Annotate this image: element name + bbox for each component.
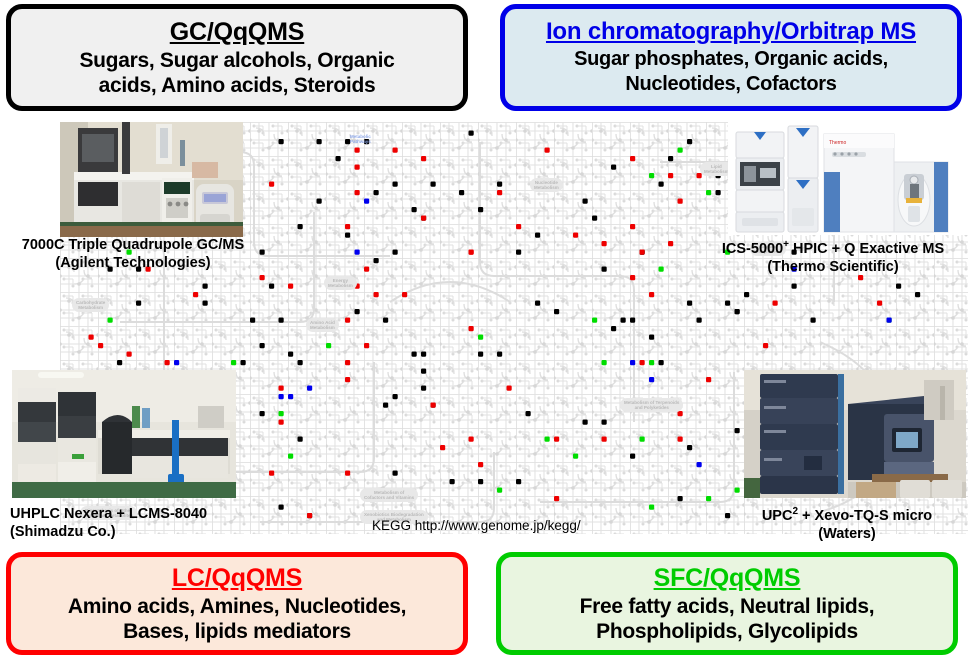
caption-ic-vendor: (Thermo Scientific) — [700, 258, 966, 276]
figure-canvas: Metabolic Pathways Carbohydrate Metaboli… — [0, 0, 968, 659]
category-title-lc: LC/QqQMS — [172, 564, 302, 593]
kegg-module-label: Carbohydrate Metabolism — [72, 298, 109, 312]
photo-sfc-instrument — [744, 370, 966, 498]
category-analytes-ic-line2: Nucleotides, Cofactors — [625, 72, 836, 97]
caption-ic-model-post: HPIC + Q Exactive MS — [789, 241, 944, 257]
category-analytes-sfc-line2: Phospholipids, Glycolipids — [596, 619, 858, 644]
kegg-module-label: Metabolism of Cofactors and Vitamins — [360, 488, 418, 502]
caption-lcms-model: UHPLC Nexera + LCMS-8040 — [10, 506, 207, 522]
caption-sfc-model-pre: UPC — [762, 508, 793, 524]
caption-lcms: UHPLC Nexera + LCMS-8040 (Shimadzu Co.) — [10, 505, 240, 541]
kegg-module-label: Nucleotide Metabolism — [530, 178, 563, 192]
caption-ic-model-pre: ICS-5000 — [722, 241, 783, 257]
photo-ic-orbitrap-instrument: Thermo — [728, 122, 968, 235]
photo-lcms-instrument — [12, 370, 236, 498]
kegg-module-label: Amino Acid Metabolism — [306, 318, 339, 332]
category-analytes-lc-line2: Bases, lipids mediators — [123, 619, 351, 644]
caption-gcms-model: 7000C Triple Quadrupole GC/MS — [22, 237, 244, 253]
category-analytes-gc-line1: Sugars, Sugar alcohols, Organic — [79, 48, 394, 73]
category-title-gc: GC/QqQMS — [170, 18, 305, 47]
category-title-ic: Ion chromatography/Orbitrap MS — [546, 18, 916, 46]
caption-sfc: UPC2 + Xevo-TQ-S micro (Waters) — [730, 503, 964, 543]
kegg-credit-text: KEGG http://www.genome.jp/kegg/ — [372, 518, 581, 533]
caption-gcms: 7000C Triple Quadrupole GC/MS (Agilent T… — [4, 236, 262, 272]
category-box-sfc[interactable]: SFC/QqQMS Free fatty acids, Neutral lipi… — [496, 552, 958, 655]
category-analytes-gc-line2: acids, Amino acids, Steroids — [99, 73, 376, 98]
category-title-sfc: SFC/QqQMS — [654, 564, 801, 593]
category-analytes-lc-line1: Amino acids, Amines, Nucleotides, — [68, 594, 406, 619]
caption-gcms-vendor: (Agilent Technologies) — [4, 254, 262, 272]
photo-gcms-instrument — [60, 122, 243, 237]
category-box-ic[interactable]: Ion chromatography/Orbitrap MS Sugar pho… — [500, 4, 962, 111]
category-box-gc[interactable]: GC/QqQMS Sugars, Sugar alcohols, Organic… — [6, 4, 468, 111]
category-analytes-sfc-line1: Free fatty acids, Neutral lipids, — [580, 594, 875, 619]
caption-lcms-vendor: (Shimadzu Co.) — [10, 523, 240, 541]
category-analytes-ic-line1: Sugar phosphates, Organic acids, — [574, 47, 888, 72]
kegg-map-title: Metabolic Pathways — [346, 132, 375, 146]
kegg-module-label: Metabolism of Terpenoids and Polyketides — [620, 398, 683, 412]
kegg-module-label: Energy Metabolism — [324, 276, 357, 290]
caption-sfc-vendor: (Waters) — [730, 525, 964, 543]
caption-sfc-model-post: + Xevo-TQ-S micro — [798, 508, 932, 524]
svg-text:Thermo: Thermo — [829, 140, 846, 146]
caption-ic-orbitrap: ICS-5000+ HPIC + Q Exactive MS (Thermo S… — [700, 236, 966, 276]
category-box-lc[interactable]: LC/QqQMS Amino acids, Amines, Nucleotide… — [6, 552, 468, 655]
